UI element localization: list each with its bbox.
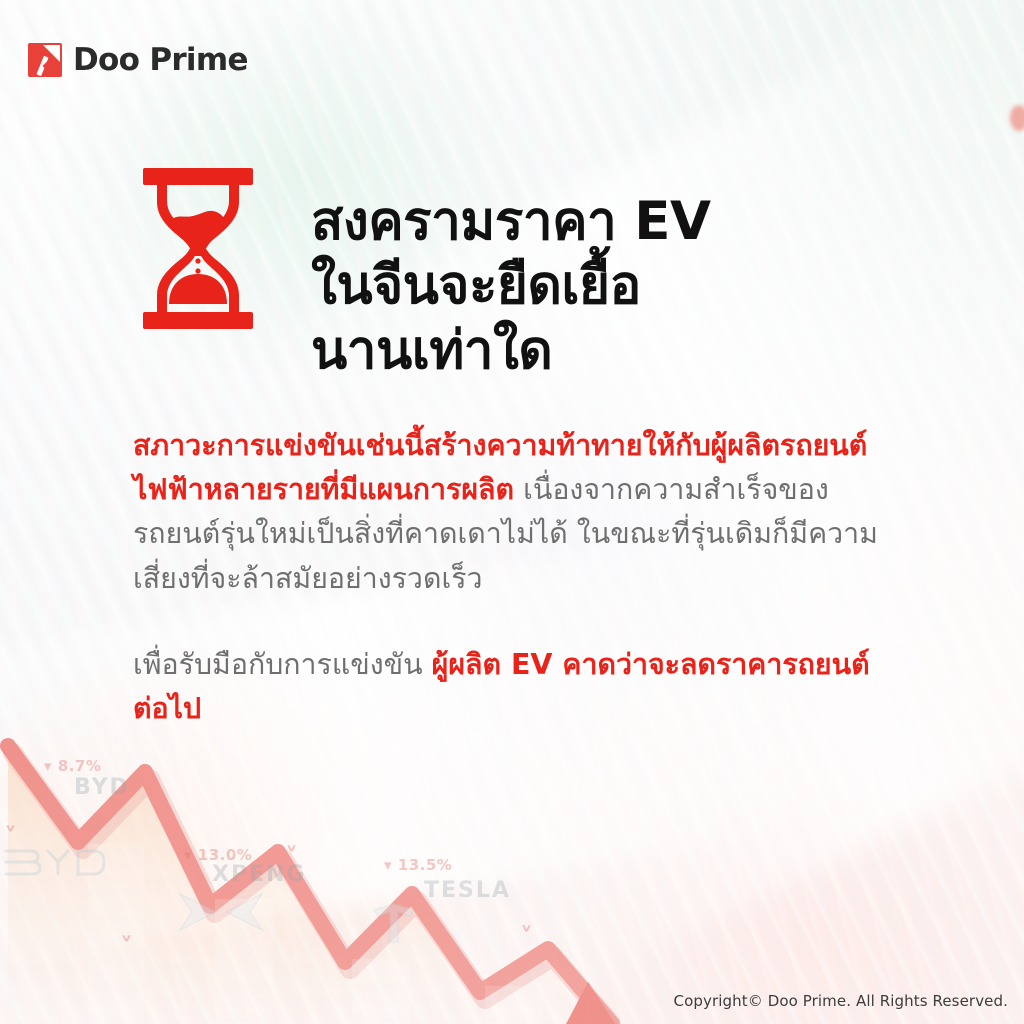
infographic-canvas: ▾ 8.7% BYD ▾ 13.0% XPENG ▾ 13.5% TESLA [0, 0, 1024, 1024]
body-copy: สภาวะการแข่งขันเช่นนี้สร้างความท้าทายให้… [133, 424, 893, 731]
paragraph-2: เพื่อรับมือกับการแข่งขัน ผู้ผลิต EV คาดว… [133, 643, 893, 731]
hero-section: สงครามราคา EV ในจีนจะยืดเยื้อ นานเท่าใด [133, 150, 933, 419]
paragraph-2-normal-1: เพื่อรับมือกับการแข่งขัน [133, 648, 432, 681]
brand-logo[interactable]: Doo Prime [28, 42, 248, 78]
copyright-footer: Copyright© Doo Prime. All Rights Reserve… [674, 992, 1008, 1010]
headline-line-1: สงครามราคา EV [311, 190, 710, 255]
hourglass-icon [133, 166, 263, 331]
paragraph-1-highlight-1: สภาวะการแข่งขันเช่นนี้สร้างความท้าทายให้… [133, 429, 780, 462]
headline-line-3: นานเท่าใด [311, 319, 710, 384]
brand-logo-text: Doo Prime [73, 42, 248, 78]
page-title: สงครามราคา EV ในจีนจะยืดเยื้อ นานเท่าใด [311, 186, 710, 384]
headline-line-2: ในจีนจะยืดเยื้อ [311, 254, 710, 319]
paragraph-spacer [133, 601, 893, 643]
doo-prime-mark-icon [28, 43, 62, 77]
paragraph-1: สภาวะการแข่งขันเช่นนี้สร้างความท้าทายให้… [133, 424, 893, 601]
background-corner-accent [1010, 105, 1024, 131]
